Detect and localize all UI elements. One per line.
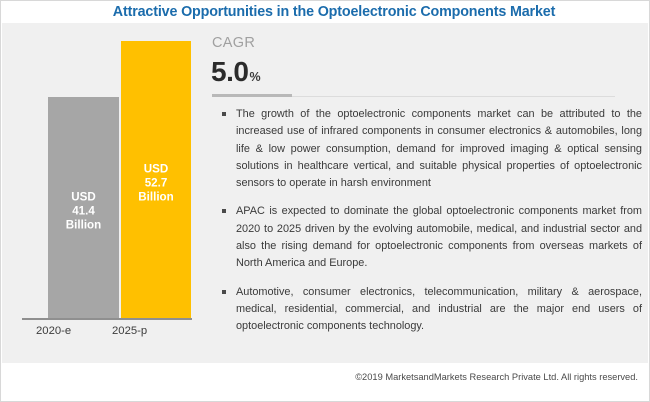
list-item-text: APAC is expected to dominate the global … (236, 205, 642, 269)
bullet-list: The growth of the optoelectronic compone… (218, 106, 642, 336)
bar-2020-e: USD 41.4 Billion (48, 97, 119, 319)
bar-2025-p-label: USD 52.7 Billion (121, 162, 191, 204)
x-tick-2020-e: 2020-e (36, 325, 71, 337)
page-title: Attractive Opportunities in the Optoelec… (97, 4, 555, 20)
copyright-text: ©2019 MarketsandMarkets Research Private… (355, 372, 638, 382)
square-bullet-icon (222, 290, 226, 294)
bar-2025-p: USD 52.7 Billion (121, 41, 191, 319)
bar-2025-p-currency: USD (121, 162, 191, 176)
panel-divider-accent (212, 94, 292, 97)
x-axis-line (22, 318, 192, 320)
square-bullet-icon (222, 112, 226, 116)
content-canvas: USD 41.4 Billion USD 52.7 Billion 2020-e… (2, 23, 648, 363)
square-bullet-icon (222, 209, 226, 213)
bar-2025-p-value: 52.7 (121, 176, 191, 190)
cagr-label: CAGR (212, 35, 255, 51)
bar-2020-e-label: USD 41.4 Billion (48, 190, 119, 232)
x-tick-2025-p: 2025-p (112, 325, 147, 337)
insights-panel: CAGR 5.0 % The growth of the optoelectro… (207, 23, 648, 363)
bar-2020-e-value: 41.4 (48, 204, 119, 218)
infographic-slide: Attractive Opportunities in the Optoelec… (0, 0, 650, 402)
cagr-unit: % (249, 70, 260, 84)
list-item: APAC is expected to dominate the global … (218, 203, 642, 272)
footer-bar: ©2019 MarketsandMarkets Research Private… (2, 363, 648, 401)
x-axis-tick-labels: 2020-e 2025-p (22, 325, 194, 343)
bar-2020-e-currency: USD (48, 190, 119, 204)
bar-chart: USD 41.4 Billion USD 52.7 Billion 2020-e… (2, 23, 207, 363)
bar-2025-p-unit: Billion (121, 190, 191, 204)
title-bar: Attractive Opportunities in the Optoelec… (1, 1, 650, 23)
cagr-value-group: 5.0 % (211, 56, 261, 88)
list-item-text: Automotive, consumer electronics, teleco… (236, 286, 642, 333)
cagr-value: 5.0 (211, 56, 248, 88)
list-item: The growth of the optoelectronic compone… (218, 106, 642, 192)
list-item: Automotive, consumer electronics, teleco… (218, 284, 642, 336)
list-item-text: The growth of the optoelectronic compone… (236, 108, 642, 189)
bar-2020-e-unit: Billion (48, 218, 119, 232)
